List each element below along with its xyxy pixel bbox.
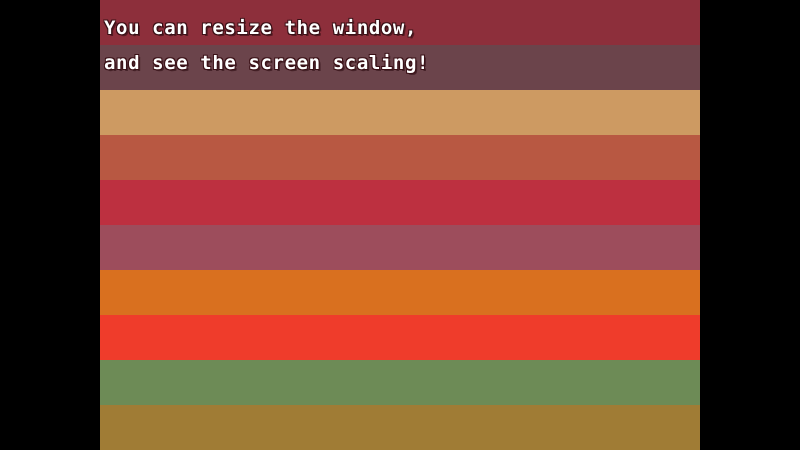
app-canvas: You can resize the window, and see the s… [0, 0, 800, 450]
scaled-screen-viewport[interactable]: You can resize the window, and see the s… [100, 0, 700, 450]
color-band [100, 360, 700, 405]
color-band [100, 405, 700, 450]
color-band [100, 90, 700, 135]
color-band [100, 135, 700, 180]
color-band [100, 45, 700, 90]
color-band [100, 0, 700, 45]
letterbox-bar-left [0, 0, 100, 450]
letterbox-bar-right [700, 0, 800, 450]
color-band [100, 180, 700, 225]
color-band [100, 315, 700, 360]
color-band [100, 225, 700, 270]
color-band [100, 270, 700, 315]
color-band-test-pattern [100, 0, 700, 450]
